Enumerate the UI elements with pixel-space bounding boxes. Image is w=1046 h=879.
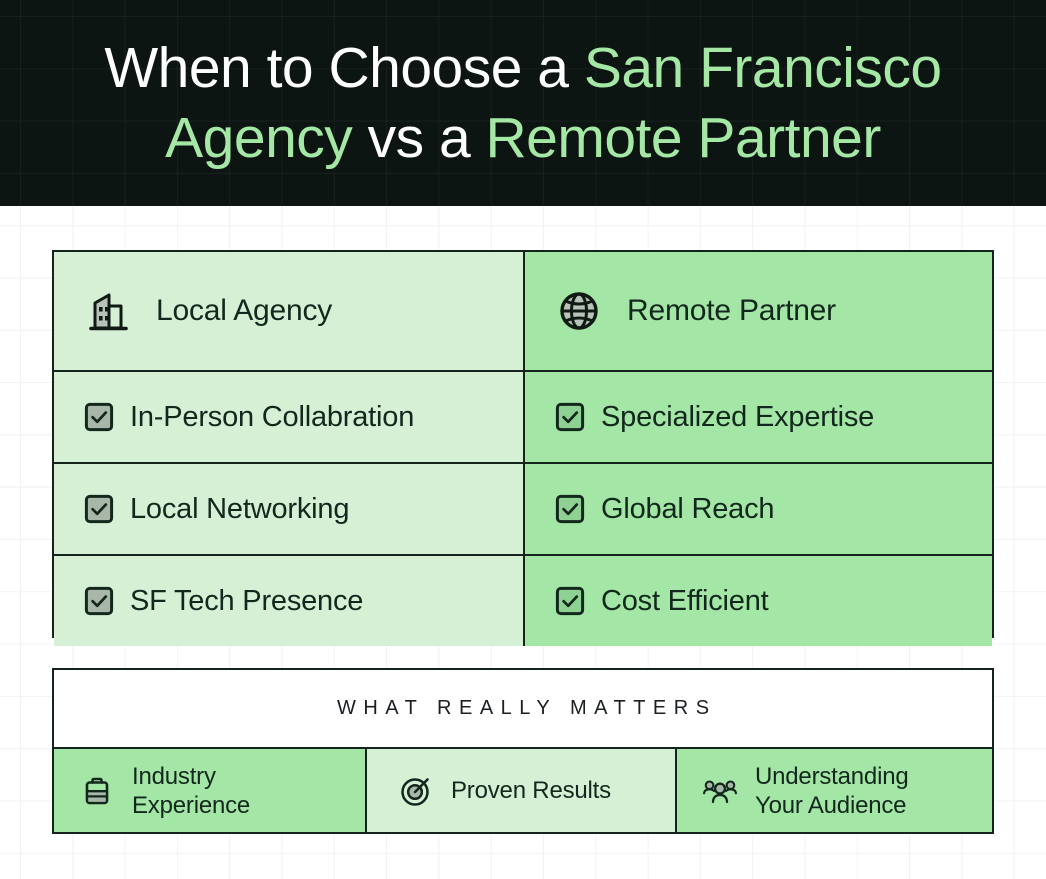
checkbox-checked-icon bbox=[555, 586, 585, 616]
comparison-cell-label: Local Networking bbox=[130, 493, 349, 526]
title-line2-plain: vs a bbox=[352, 106, 485, 170]
briefcase-icon bbox=[78, 772, 116, 810]
table-header-row: Local Agency Remote Partner bbox=[54, 252, 992, 372]
comparison-cell-label: Global Reach bbox=[601, 493, 774, 526]
matters-item-label: Industry Experience bbox=[132, 762, 250, 820]
table-row: SF Tech Presence Cost Efficient bbox=[54, 556, 992, 646]
page-title: When to Choose a San Francisco Agency vs… bbox=[33, 33, 1013, 173]
matters-title: WHAT REALLY MATTERS bbox=[329, 697, 716, 720]
what-really-matters-section: WHAT REALLY MATTERS Industry Experience bbox=[52, 668, 994, 834]
target-icon bbox=[397, 772, 435, 810]
matters-item-label: Proven Results bbox=[451, 776, 611, 805]
matters-title-bar: WHAT REALLY MATTERS bbox=[54, 670, 992, 749]
checkbox-checked-icon bbox=[84, 402, 114, 432]
building-icon bbox=[82, 285, 134, 337]
matters-cell-group: Industry Experience Proven Results bbox=[54, 749, 992, 832]
comparison-cell-left: SF Tech Presence bbox=[54, 556, 525, 646]
comparison-cell-label: SF Tech Presence bbox=[130, 585, 363, 618]
comparison-cell-left: Local Networking bbox=[54, 464, 525, 554]
comparison-cell-label: In-Person Collabration bbox=[130, 401, 414, 434]
matters-item-industry-experience: Industry Experience bbox=[54, 749, 367, 832]
comparison-cell-label: Cost Efficient bbox=[601, 585, 769, 618]
globe-icon bbox=[553, 285, 605, 337]
table-row: In-Person Collabration Specialized Exper… bbox=[54, 372, 992, 464]
title-line1-plain: When to Choose a bbox=[104, 36, 583, 100]
checkbox-checked-icon bbox=[84, 494, 114, 524]
comparison-cell-right: Global Reach bbox=[525, 464, 992, 554]
matters-item-understanding-your-audience: Understanding Your Audience bbox=[677, 749, 992, 832]
column-header-label: Remote Partner bbox=[627, 294, 836, 328]
comparison-table: Local Agency Remote Partner bbox=[52, 250, 994, 638]
column-header-remote-partner: Remote Partner bbox=[525, 252, 992, 370]
matters-item-proven-results: Proven Results bbox=[367, 749, 677, 832]
infographic-root: When to Choose a San Francisco Agency vs… bbox=[0, 0, 1046, 879]
comparison-cell-label: Specialized Expertise bbox=[601, 401, 874, 434]
checkbox-checked-icon bbox=[84, 586, 114, 616]
title-line2-accent-a: Agency bbox=[165, 106, 352, 170]
checkbox-checked-icon bbox=[555, 402, 585, 432]
table-row: Local Networking Global Reach bbox=[54, 464, 992, 556]
comparison-cell-right: Specialized Expertise bbox=[525, 372, 992, 462]
header-banner: When to Choose a San Francisco Agency vs… bbox=[0, 0, 1046, 206]
column-header-local-agency: Local Agency bbox=[54, 252, 525, 370]
checkbox-checked-icon bbox=[555, 494, 585, 524]
column-header-label: Local Agency bbox=[156, 294, 332, 328]
matters-item-label: Understanding Your Audience bbox=[755, 762, 909, 820]
title-line2-accent-b: Remote Partner bbox=[486, 106, 881, 170]
title-line1-accent: San Francisco bbox=[584, 36, 942, 100]
comparison-cell-right: Cost Efficient bbox=[525, 556, 992, 646]
people-group-icon bbox=[701, 772, 739, 810]
comparison-cell-left: In-Person Collabration bbox=[54, 372, 525, 462]
